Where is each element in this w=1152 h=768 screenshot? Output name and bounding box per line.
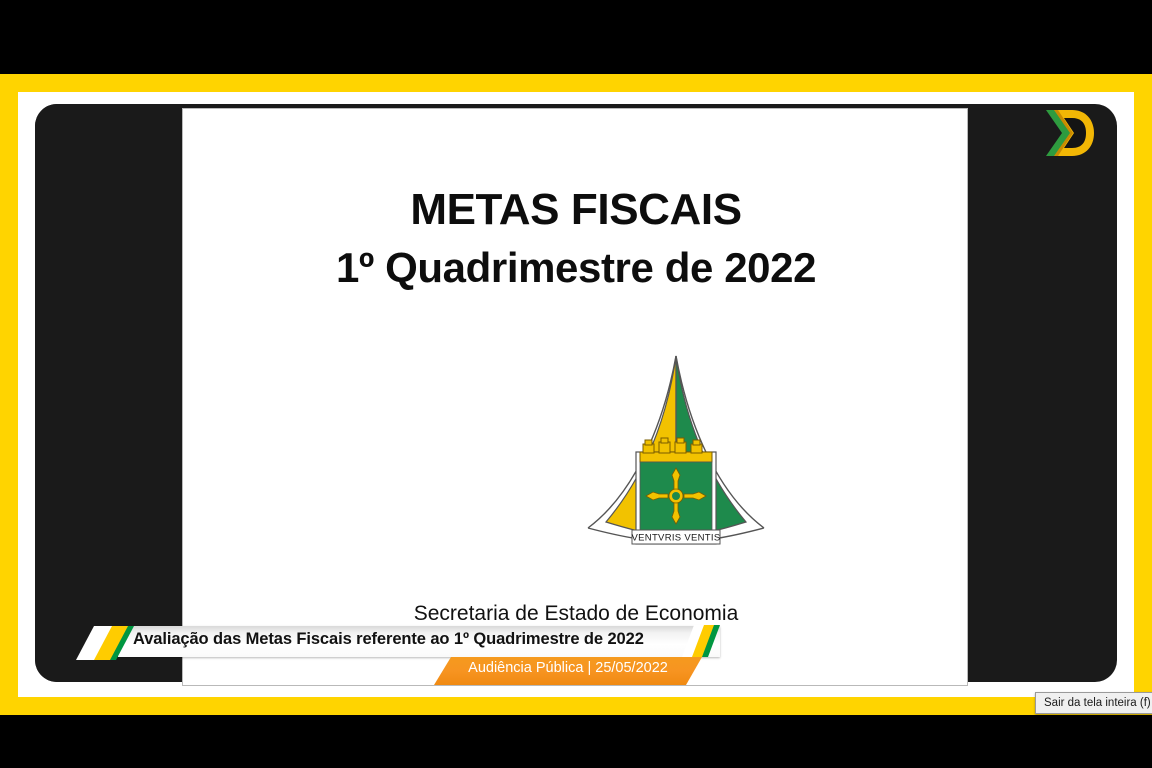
svg-text:VENTVRIS VENTIS: VENTVRIS VENTIS	[632, 533, 721, 544]
flag-accent-right-icon	[676, 623, 728, 659]
banner-sub-text: Audiência Pública | 25/05/2022	[434, 660, 702, 676]
banner-main-text: Avaliação das Metas Fiscais referente ao…	[133, 630, 644, 649]
presentation-slide: METAS FISCAIS 1º Quadrimestre de 2022	[182, 108, 968, 686]
stage-letterbox-left	[35, 104, 185, 682]
banner-sub-bar: Audiência Pública | 25/05/2022	[434, 657, 702, 685]
organization-label: Secretaria de Estado de Economia	[183, 602, 968, 626]
exit-fullscreen-tooltip-label: Sair da tela inteira (f)	[1044, 697, 1151, 709]
fullscreen-player: METAS FISCAIS 1º Quadrimestre de 2022	[0, 0, 1152, 768]
slide-title-line2: 1º Quadrimestre de 2022	[183, 239, 968, 297]
slide-title: METAS FISCAIS 1º Quadrimestre de 2022	[183, 181, 968, 297]
slide-title-line1: METAS FISCAIS	[410, 185, 741, 234]
exit-fullscreen-tooltip[interactable]: Sair da tela inteira (f)	[1035, 692, 1152, 714]
gdf-logo-icon	[1038, 104, 1100, 162]
lower-banner: Avaliação das Metas Fiscais referente ao…	[72, 626, 732, 688]
brasilia-coat-of-arms-icon: VENTVRIS VENTIS	[576, 352, 776, 557]
